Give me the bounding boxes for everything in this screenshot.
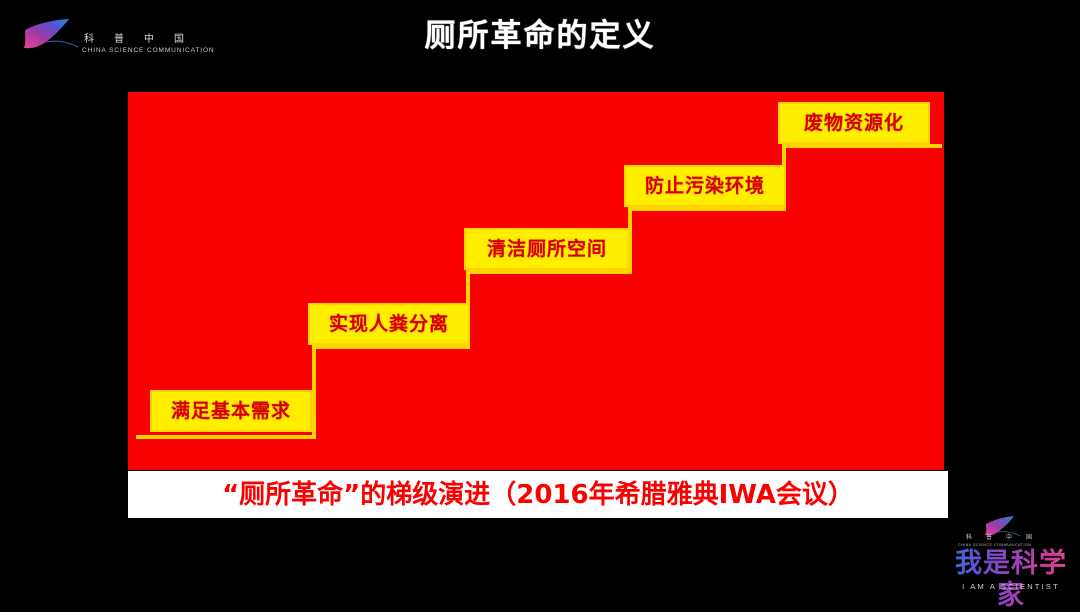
- step-label-4-text: 防止污染环境: [645, 177, 765, 196]
- show-char-3: 中: [1006, 534, 1012, 543]
- step-label-2: 实现人粪分离: [308, 303, 470, 345]
- step-label-3-text: 清洁厕所空间: [487, 240, 607, 259]
- step-label-1-text: 满足基本需求: [171, 402, 291, 421]
- step-label-4: 防止污染环境: [624, 165, 786, 207]
- step-tread-2: [312, 345, 470, 349]
- step-tread-1: [136, 435, 316, 439]
- step-label-5-text: 废物资源化: [804, 114, 904, 133]
- page-title: 厕所革命的定义: [0, 16, 1080, 56]
- show-logo-title: 我是科学家: [948, 548, 1074, 612]
- step-tread-4: [628, 207, 786, 211]
- step-label-1: 满足基本需求: [150, 390, 312, 432]
- step-riser-1: [312, 345, 316, 439]
- show-logo-subtitle: I AM A SCIENTIST: [948, 582, 1074, 591]
- step-tread-5: [782, 144, 942, 148]
- show-logo: 科 普 中 国 CHINA SCIENCE COMMUNICATION 我是科学…: [948, 516, 1074, 596]
- slide-canvas: 科 普 中 国 CHINA SCIENCE COMMUNICATION 厕所革命…: [0, 0, 1080, 604]
- chart-caption-bar: “厕所革命”的梯级演进（2016年希腊雅典IWA会议）: [128, 471, 948, 518]
- step-label-5: 废物资源化: [778, 102, 930, 144]
- show-logo-mini-subtitle: CHINA SCIENCE COMMUNICATION: [958, 543, 1031, 547]
- step-tread-3: [466, 270, 632, 274]
- chart-caption-text: “厕所革命”的梯级演进（2016年希腊雅典IWA会议）: [222, 480, 854, 510]
- show-char-4: 国: [1026, 534, 1032, 543]
- staircase-chart-panel: 满足基本需求 实现人粪分离 清洁厕所空间 防止污染环境 废物资源化: [128, 92, 944, 470]
- show-logo-chars: 科 普 中 国: [966, 534, 1032, 543]
- show-char-2: 普: [986, 534, 992, 543]
- step-label-2-text: 实现人粪分离: [329, 315, 449, 334]
- show-char-1: 科: [966, 534, 972, 543]
- step-label-3: 清洁厕所空间: [464, 228, 630, 270]
